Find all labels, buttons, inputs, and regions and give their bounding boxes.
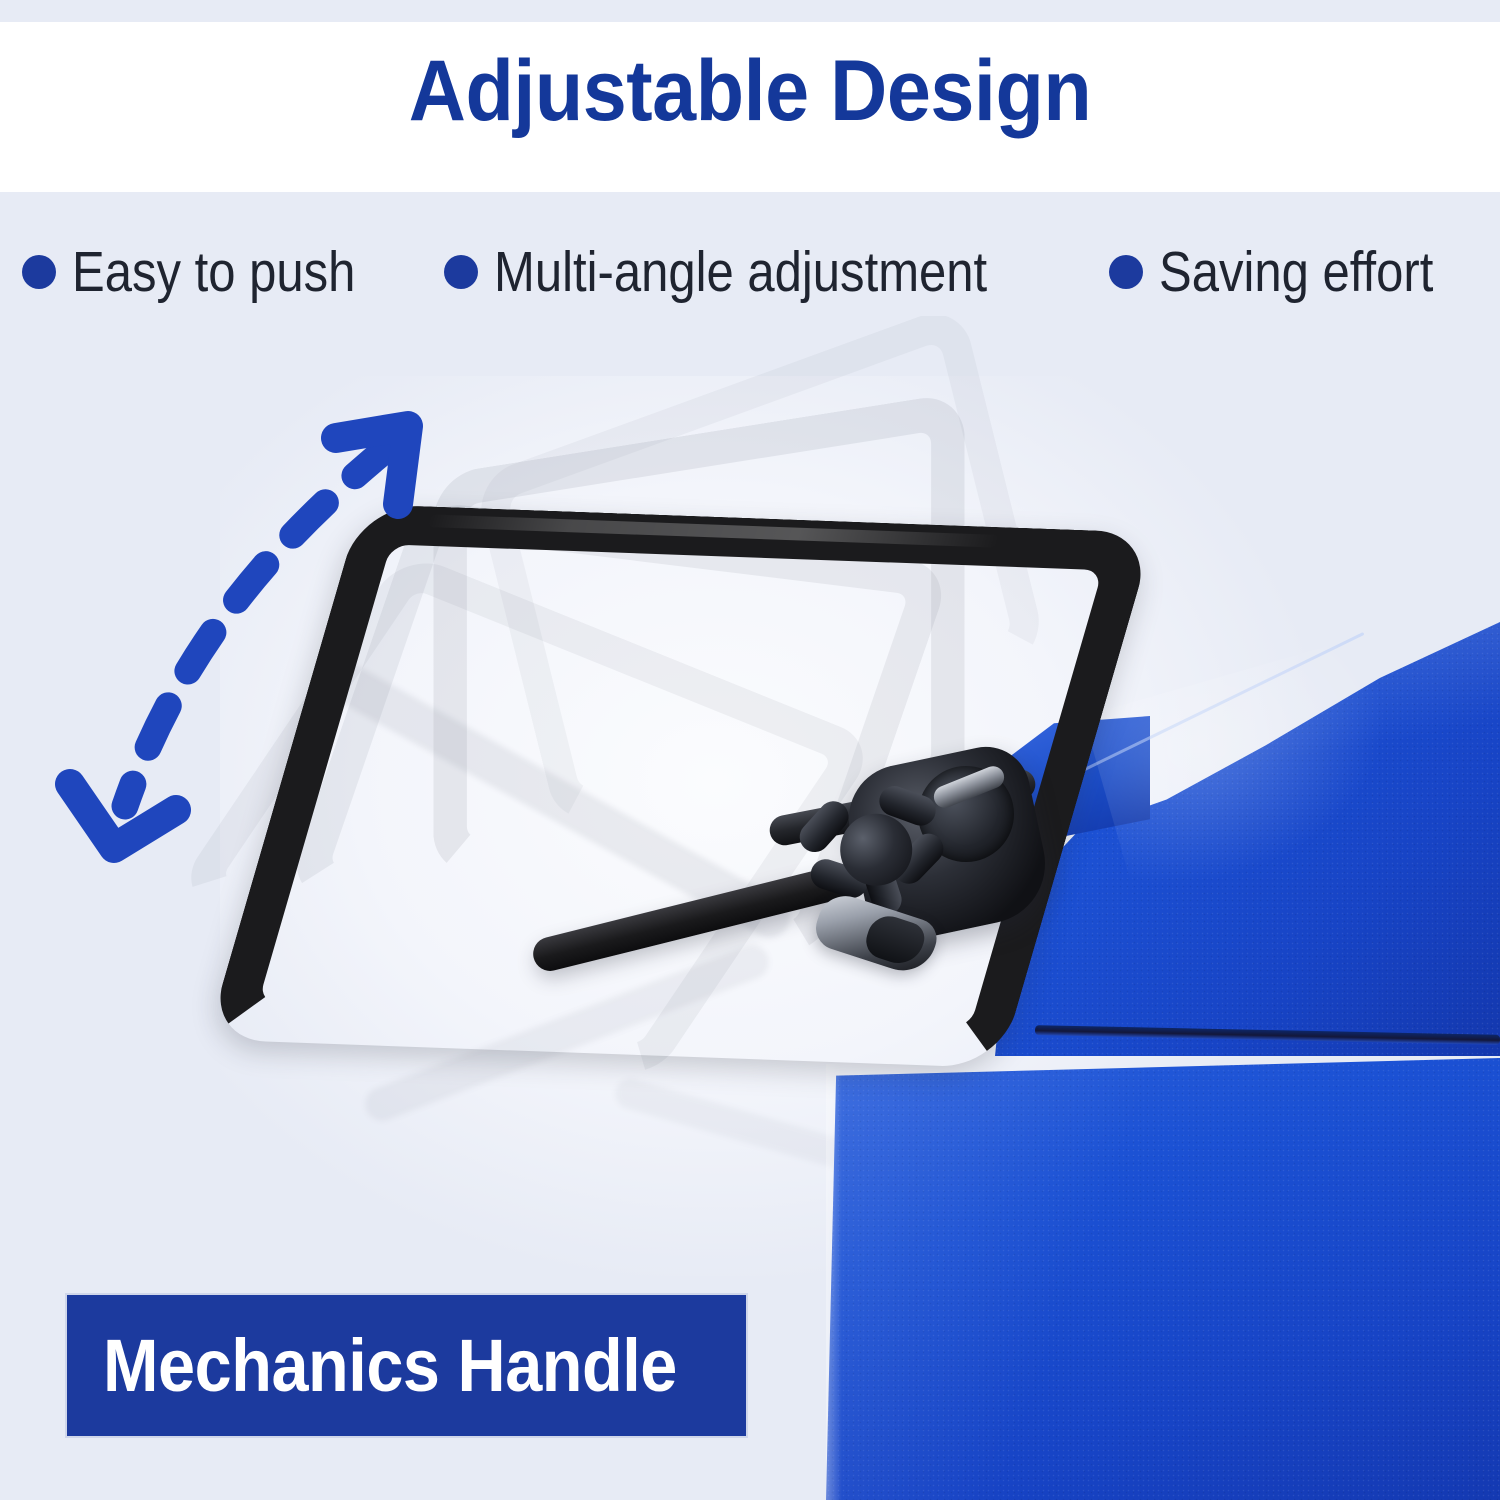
feature-label: Multi-angle adjustment bbox=[494, 244, 987, 301]
bullet-dot-icon bbox=[1109, 255, 1143, 289]
product-name-banner: Mechanics Handle bbox=[65, 1293, 748, 1438]
feature-item-easy-to-push: Easy to push bbox=[22, 244, 402, 301]
page-title: Adjustable Design bbox=[60, 48, 1440, 134]
feature-item-multi-angle-adjustment: Multi-angle adjustment bbox=[444, 244, 1067, 301]
feature-label: Easy to push bbox=[72, 244, 355, 301]
bullet-dot-icon bbox=[22, 255, 56, 289]
feature-label: Saving effort bbox=[1159, 244, 1433, 301]
arrow-dashed-path bbox=[125, 446, 390, 806]
multi-angle-adjustment-joint bbox=[800, 736, 1080, 1006]
fabric-texture bbox=[826, 1058, 1500, 1500]
bullet-dot-icon bbox=[444, 255, 478, 289]
feature-item-saving-effort: Saving effort bbox=[1109, 244, 1478, 301]
product-body-lower bbox=[826, 1058, 1500, 1500]
banner-label: Mechanics Handle bbox=[103, 1329, 677, 1403]
product-body-edge-highlight bbox=[826, 1064, 842, 1500]
top-accent-strip bbox=[0, 0, 1500, 22]
curved-double-arrow-icon bbox=[30, 386, 450, 906]
product-feature-poster: Adjustable Design Easy to push Multi-ang… bbox=[0, 0, 1500, 1500]
feature-bullet-row: Easy to push Multi-angle adjustment Savi… bbox=[0, 228, 1500, 316]
